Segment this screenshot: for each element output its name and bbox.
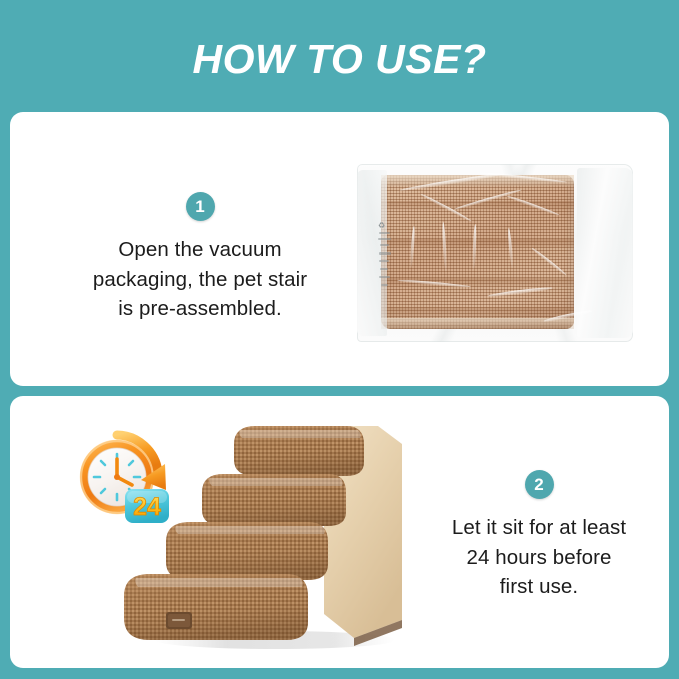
step-1-caption-line-3: is pre-assembled. xyxy=(48,294,352,324)
step-1-text-block: 1 Open the vacuum packaging, the pet sta… xyxy=(48,192,352,324)
step-1-number-badge: 1 xyxy=(186,192,215,221)
step-2-caption-line-2: 24 hours before xyxy=(394,543,669,573)
page-title: HOW TO USE? xyxy=(192,39,486,80)
step-2-caption-line-1: Let it sit for at least xyxy=(394,513,669,543)
step-1-caption-line-2: packaging, the pet stair xyxy=(48,265,352,295)
pet-stairs-svg xyxy=(110,400,420,660)
foam-seam-2 xyxy=(381,239,574,248)
step-2-number-badge: 2 xyxy=(525,470,554,499)
package-print-marks xyxy=(377,230,393,292)
step-1-caption-line-1: Open the vacuum xyxy=(48,235,352,265)
step-1-caption: Open the vacuum packaging, the pet stair… xyxy=(48,235,352,324)
step-2-text-block: 2 Let it sit for at least 24 hours befor… xyxy=(394,470,669,602)
step-2-card: 24 xyxy=(10,396,669,668)
recycle-symbol-icon: ♻ xyxy=(378,222,385,230)
step-1-card: 1 Open the vacuum packaging, the pet sta… xyxy=(10,112,669,386)
vacuum-packaging-photo: ♻ xyxy=(357,164,633,342)
how-to-use-infographic: HOW TO USE? 1 Open the vacuum packaging,… xyxy=(0,0,679,679)
pet-stairs-photo xyxy=(110,400,420,660)
brand-tag-label xyxy=(166,612,192,629)
step-2-caption-line-3: first use. xyxy=(394,572,669,602)
step-2-caption: Let it sit for at least 24 hours before … xyxy=(394,513,669,602)
foam-seam-4 xyxy=(381,307,574,316)
header-banner: HOW TO USE? xyxy=(0,0,679,112)
